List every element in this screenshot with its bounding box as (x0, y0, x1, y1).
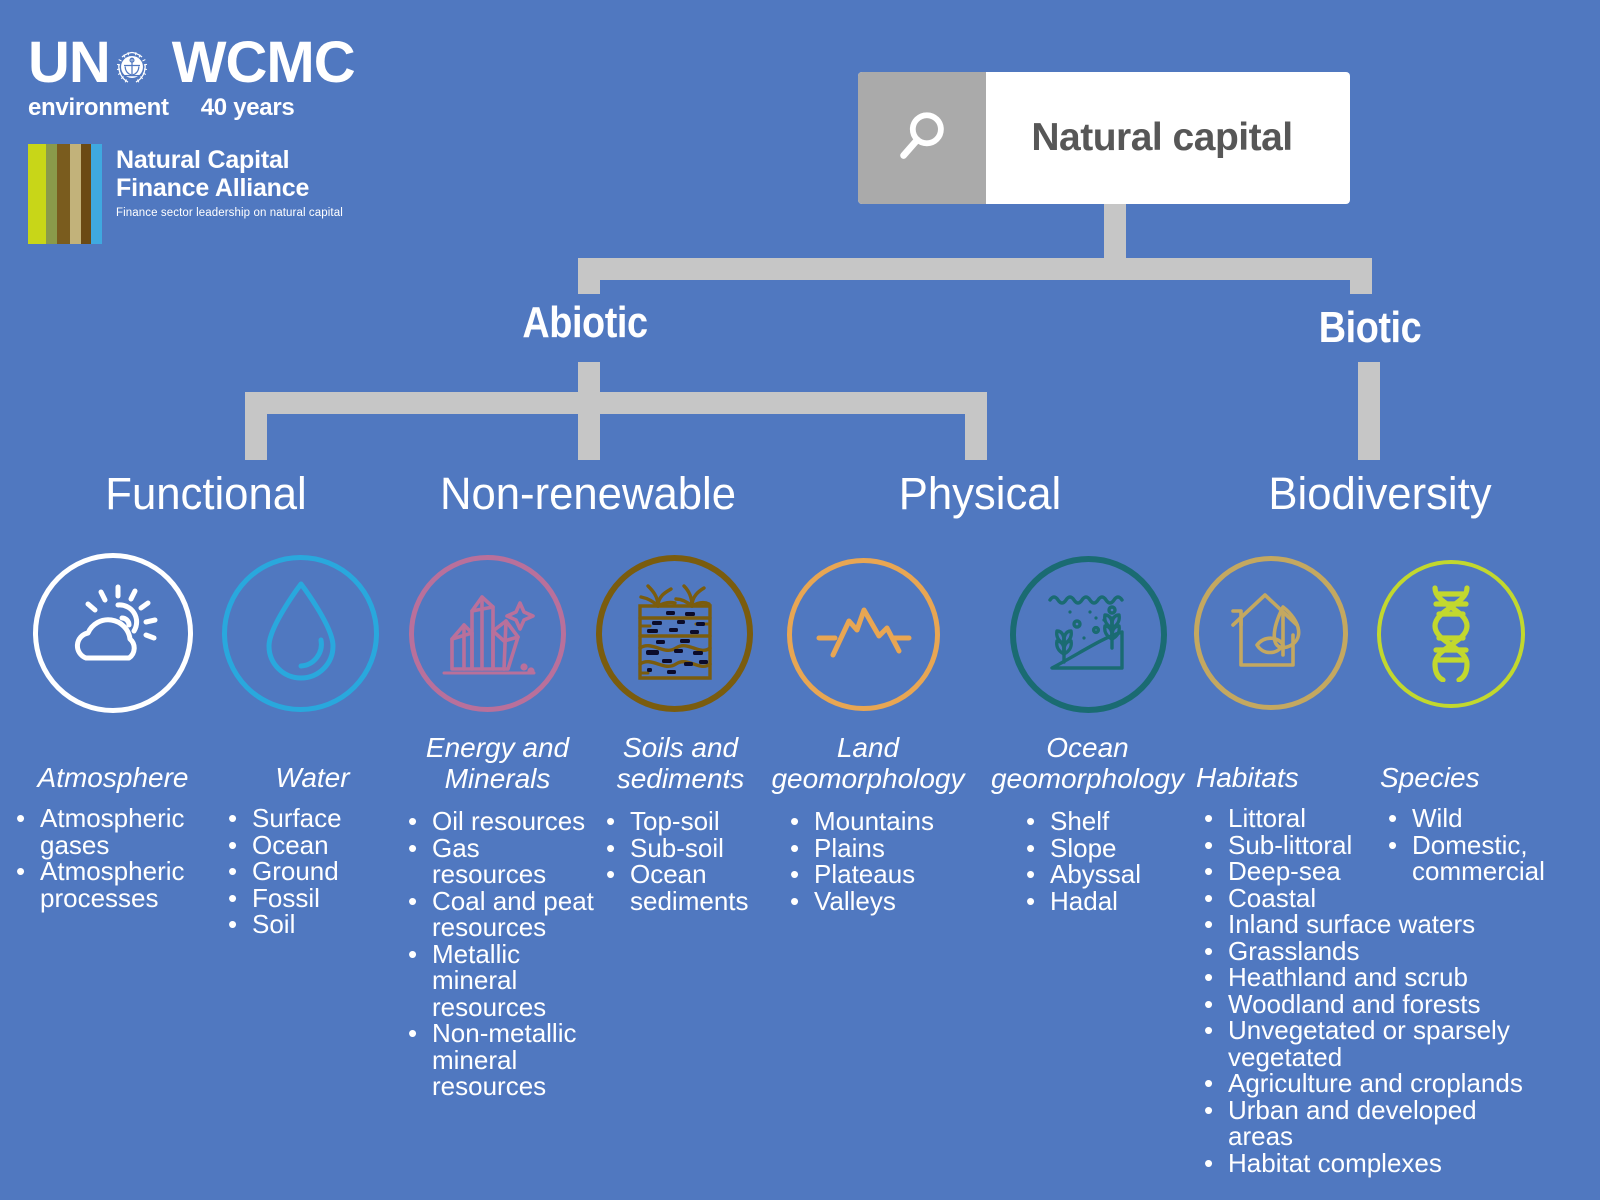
bullet-icon: • (228, 885, 237, 912)
list-item: •Non-metallic mineral resources (400, 1020, 595, 1100)
bullet-icon: • (1026, 888, 1035, 915)
list-item-label: Atmospheric processes (40, 856, 185, 913)
connector-physical-drop (965, 392, 987, 460)
environment-label: environment (28, 94, 169, 122)
list-item-label: Deep-sea (1228, 856, 1341, 886)
connector-biodiversity-drop (1358, 362, 1380, 460)
list-item: •Shelf (1018, 808, 1195, 835)
list-item: •Coal and peat resources (400, 888, 595, 941)
bullet-icon: • (1026, 861, 1035, 888)
dna-icon (1409, 582, 1493, 687)
list-item-label: Littoral (1228, 803, 1306, 833)
list-item: •Mountains (782, 808, 972, 835)
list-item: •Plateaus (782, 861, 972, 888)
connector-nonrenewable-drop (578, 392, 600, 460)
list-item-label: Domestic, commercial (1412, 830, 1545, 887)
column-title: Soils and sediments (598, 732, 763, 794)
list-item: •Atmospheric processes (8, 858, 218, 911)
list-item-label: Hadal (1050, 886, 1118, 916)
house-leaf-icon (1221, 583, 1321, 684)
infographic-canvas: UN (0, 0, 1600, 1200)
crystals-icon (436, 581, 540, 686)
list-item: •Slope (1018, 835, 1195, 862)
list-item-label: Sub-littoral (1228, 830, 1352, 860)
list-item-label: Shelf (1050, 806, 1109, 836)
column-title: Species (1380, 762, 1540, 793)
list-item: •Valleys (782, 888, 972, 915)
list-item-label: Sub-soil (630, 833, 724, 863)
un-subtitle-row: environment 40 years (28, 94, 408, 122)
column-title: Atmosphere (8, 762, 218, 793)
connector-abiotic-stem (578, 362, 600, 394)
list-item: •Woodland and forests (1196, 991, 1536, 1018)
column-atmosphere: Atmosphere •Atmospheric gases •Atmospher… (8, 762, 218, 911)
root-label: Natural capital (986, 72, 1350, 204)
icon-circle-habitats[interactable] (1194, 556, 1348, 710)
list-item: •Fossil (220, 885, 405, 912)
list-item: •Atmospheric gases (8, 805, 218, 858)
list-item: •Domestic, commercial (1380, 832, 1595, 885)
list-item: •Hadal (1018, 888, 1195, 915)
bullet-icon: • (606, 835, 615, 862)
icon-circle-energy-and-minerals[interactable] (409, 555, 566, 712)
list-item-label: Heathland and scrub (1228, 962, 1468, 992)
bullet-icon: • (1204, 964, 1213, 991)
bullet-icon: • (228, 858, 237, 885)
icon-circle-soils-and-sediments[interactable] (596, 555, 753, 712)
bullet-icon: • (790, 835, 799, 862)
node-biodiversity[interactable]: Biodiversity (1230, 468, 1531, 520)
bullet-icon: • (1204, 938, 1213, 965)
bullet-icon: • (606, 808, 615, 835)
column-list: •Shelf •Slope •Abyssal •Hadal (980, 808, 1195, 914)
column-list: •Wild •Domestic, commercial (1380, 805, 1595, 885)
column-habitats: Habitats •Littoral •Sub-littoral •Deep-s… (1196, 762, 1396, 1176)
bullet-icon: • (1026, 835, 1035, 862)
list-item-label: Atmospheric gases (40, 803, 185, 860)
connector-level1-bar (578, 258, 1372, 280)
list-item: •Coastal (1196, 885, 1536, 912)
list-item-label: Ground (252, 856, 339, 886)
alliance-line-2: Finance Alliance (116, 174, 343, 202)
list-item-label: Unvegetated or sparsely vegetated (1228, 1015, 1510, 1072)
list-item: •Surface (220, 805, 405, 832)
list-item: •Plains (782, 835, 972, 862)
bullet-icon: • (1204, 885, 1213, 912)
column-ocean-geomorphology: Ocean geomorphology •Shelf •Slope •Abyss… (980, 732, 1195, 914)
soil-layers-icon (622, 578, 728, 689)
icon-circle-species[interactable] (1377, 560, 1525, 708)
node-functional[interactable]: Functional (80, 468, 332, 520)
bullet-icon: • (790, 808, 799, 835)
bullet-icon: • (408, 941, 417, 968)
list-item-label: Urban and developed areas (1228, 1095, 1477, 1152)
list-item: •Ocean sediments (598, 861, 763, 914)
connector-root-stem (1104, 204, 1126, 260)
icon-circle-ocean-geomorphology[interactable] (1010, 556, 1167, 713)
node-non-renewable[interactable]: Non-renewable (413, 468, 762, 520)
list-item: •Sub-soil (598, 835, 763, 862)
bullet-icon: • (1204, 832, 1213, 859)
logo-block: UN (28, 30, 408, 244)
column-list: •Surface •Ocean •Ground •Fossil •Soil (220, 805, 405, 938)
un-word: UN (28, 34, 110, 92)
bullet-icon: • (1204, 911, 1213, 938)
bullet-icon: • (1204, 858, 1213, 885)
natural-capital-finance-alliance-logo: Natural Capital Finance Alliance Finance… (28, 144, 408, 244)
list-item: •Soil (220, 911, 405, 938)
bullet-icon: • (606, 861, 615, 888)
column-list: •Top-soil •Sub-soil •Ocean sediments (598, 808, 763, 914)
bullet-icon: • (16, 805, 25, 832)
connector-abiotic-drop (578, 258, 600, 294)
natural-capital-root-node[interactable]: Natural capital (858, 72, 1350, 204)
connector-functional-drop (245, 392, 267, 460)
list-item-label: Non-metallic mineral resources (432, 1018, 577, 1101)
column-title: Ocean geomorphology (980, 732, 1195, 794)
bullet-icon: • (790, 888, 799, 915)
node-biotic[interactable]: Biotic (1306, 303, 1435, 353)
list-item-label: Mountains (814, 806, 934, 836)
bullet-icon: • (790, 861, 799, 888)
list-item: •Habitat complexes (1196, 1150, 1536, 1177)
bullet-icon: • (1388, 805, 1397, 832)
list-item-label: Metallic mineral resources (432, 939, 546, 1022)
alliance-color-bars (28, 144, 102, 244)
list-item-label: Coastal (1228, 883, 1316, 913)
list-item-label: Slope (1050, 833, 1117, 863)
list-item: •Abyssal (1018, 861, 1195, 888)
column-title: Habitats (1196, 762, 1396, 793)
list-item-label: Woodland and forests (1228, 989, 1480, 1019)
list-item-label: Inland surface waters (1228, 909, 1475, 939)
bullet-icon: • (228, 911, 237, 938)
list-item-label: Plateaus (814, 859, 915, 889)
column-list: •Mountains •Plains •Plateaus •Valleys (764, 808, 972, 914)
icon-circle-land-geomorphology[interactable] (787, 558, 940, 711)
list-item: •Oil resources (400, 808, 595, 835)
icon-circle-atmosphere[interactable] (33, 553, 193, 713)
list-item-label: Oil resources (432, 806, 585, 836)
column-title: Land geomorphology (764, 732, 972, 794)
list-item-label: Coal and peat resources (432, 886, 594, 943)
wcmc-word: WCMC (172, 34, 355, 92)
bullet-icon: • (408, 888, 417, 915)
sun-cloud-icon (60, 581, 166, 686)
column-title: Water (220, 762, 405, 793)
list-item: •Ground (220, 858, 405, 885)
list-item: •Unvegetated or sparsely vegetated (1196, 1017, 1536, 1070)
node-abiotic[interactable]: Abiotic (516, 298, 654, 348)
bullet-icon: • (16, 858, 25, 885)
column-title: Energy and Minerals (400, 732, 595, 794)
years-label: 40 years (201, 94, 295, 122)
un-wcmc-wordmark: UN (28, 30, 408, 92)
water-droplet-icon (259, 578, 343, 689)
un-emblem-icon (112, 48, 150, 86)
bullet-icon: • (1026, 808, 1035, 835)
bullet-icon: • (1204, 1150, 1213, 1177)
bullet-icon: • (408, 835, 417, 862)
bullet-icon: • (1204, 1017, 1213, 1044)
alliance-line-1: Natural Capital (116, 146, 343, 174)
list-item: •Inland surface waters (1196, 911, 1536, 938)
column-soils-and-sediments: Soils and sediments •Top-soil •Sub-soil … (598, 732, 763, 914)
column-land-geomorphology: Land geomorphology •Mountains •Plains •P… (764, 732, 972, 914)
bullet-icon: • (1204, 991, 1213, 1018)
list-item-label: Soil (252, 909, 295, 939)
alliance-tagline: Finance sector leadership on natural cap… (116, 207, 343, 219)
list-item: •Urban and developed areas (1196, 1097, 1536, 1150)
bullet-icon: • (1204, 1097, 1213, 1124)
bullet-icon: • (1204, 1070, 1213, 1097)
list-item: •Metallic mineral resources (400, 941, 595, 1021)
list-item-label: Valleys (814, 886, 896, 916)
list-item: •Heathland and scrub (1196, 964, 1536, 991)
bullet-icon: • (408, 808, 417, 835)
bullet-icon: • (1388, 832, 1397, 859)
list-item-label: Ocean (252, 830, 329, 860)
list-item: •Ocean (220, 832, 405, 859)
bullet-icon: • (408, 1020, 417, 1047)
list-item-label: Habitat complexes (1228, 1148, 1442, 1178)
search-icon (858, 72, 986, 204)
bullet-icon: • (228, 805, 237, 832)
mountains-icon (813, 597, 915, 672)
column-list: •Oil resources •Gas resources •Coal and … (400, 808, 595, 1100)
list-item-label: Abyssal (1050, 859, 1141, 889)
list-item-label: Fossil (252, 883, 320, 913)
list-item: •Grasslands (1196, 938, 1536, 965)
connector-biotic-drop (1350, 258, 1372, 294)
node-physical[interactable]: Physical (868, 468, 1091, 520)
bullet-icon: • (228, 832, 237, 859)
list-item-label: Grasslands (1228, 936, 1360, 966)
list-item-label: Surface (252, 803, 342, 833)
list-item-label: Plains (814, 833, 885, 863)
column-water: Water •Surface •Ocean •Ground •Fossil •S… (220, 762, 405, 938)
column-species: Species •Wild •Domestic, commercial (1380, 762, 1540, 885)
list-item: •Agriculture and croplands (1196, 1070, 1536, 1097)
connector-level2-bar (245, 392, 987, 414)
alliance-text: Natural Capital Finance Alliance Finance… (116, 144, 343, 219)
list-item-label: Agriculture and croplands (1228, 1068, 1523, 1098)
list-item-label: Top-soil (630, 806, 720, 836)
list-item: •Wild (1380, 805, 1595, 832)
list-item-label: Wild (1412, 803, 1463, 833)
list-item-label: Ocean sediments (630, 859, 749, 916)
list-item: •Top-soil (598, 808, 763, 835)
seabed-icon (1038, 584, 1140, 685)
column-list: •Atmospheric gases •Atmospheric processe… (8, 805, 218, 911)
bullet-icon: • (1204, 805, 1213, 832)
icon-circle-water[interactable] (222, 555, 379, 712)
column-energy-and-minerals: Energy and Minerals •Oil resources •Gas … (400, 732, 595, 1100)
list-item-label: Gas resources (432, 833, 546, 890)
list-item: •Gas resources (400, 835, 595, 888)
